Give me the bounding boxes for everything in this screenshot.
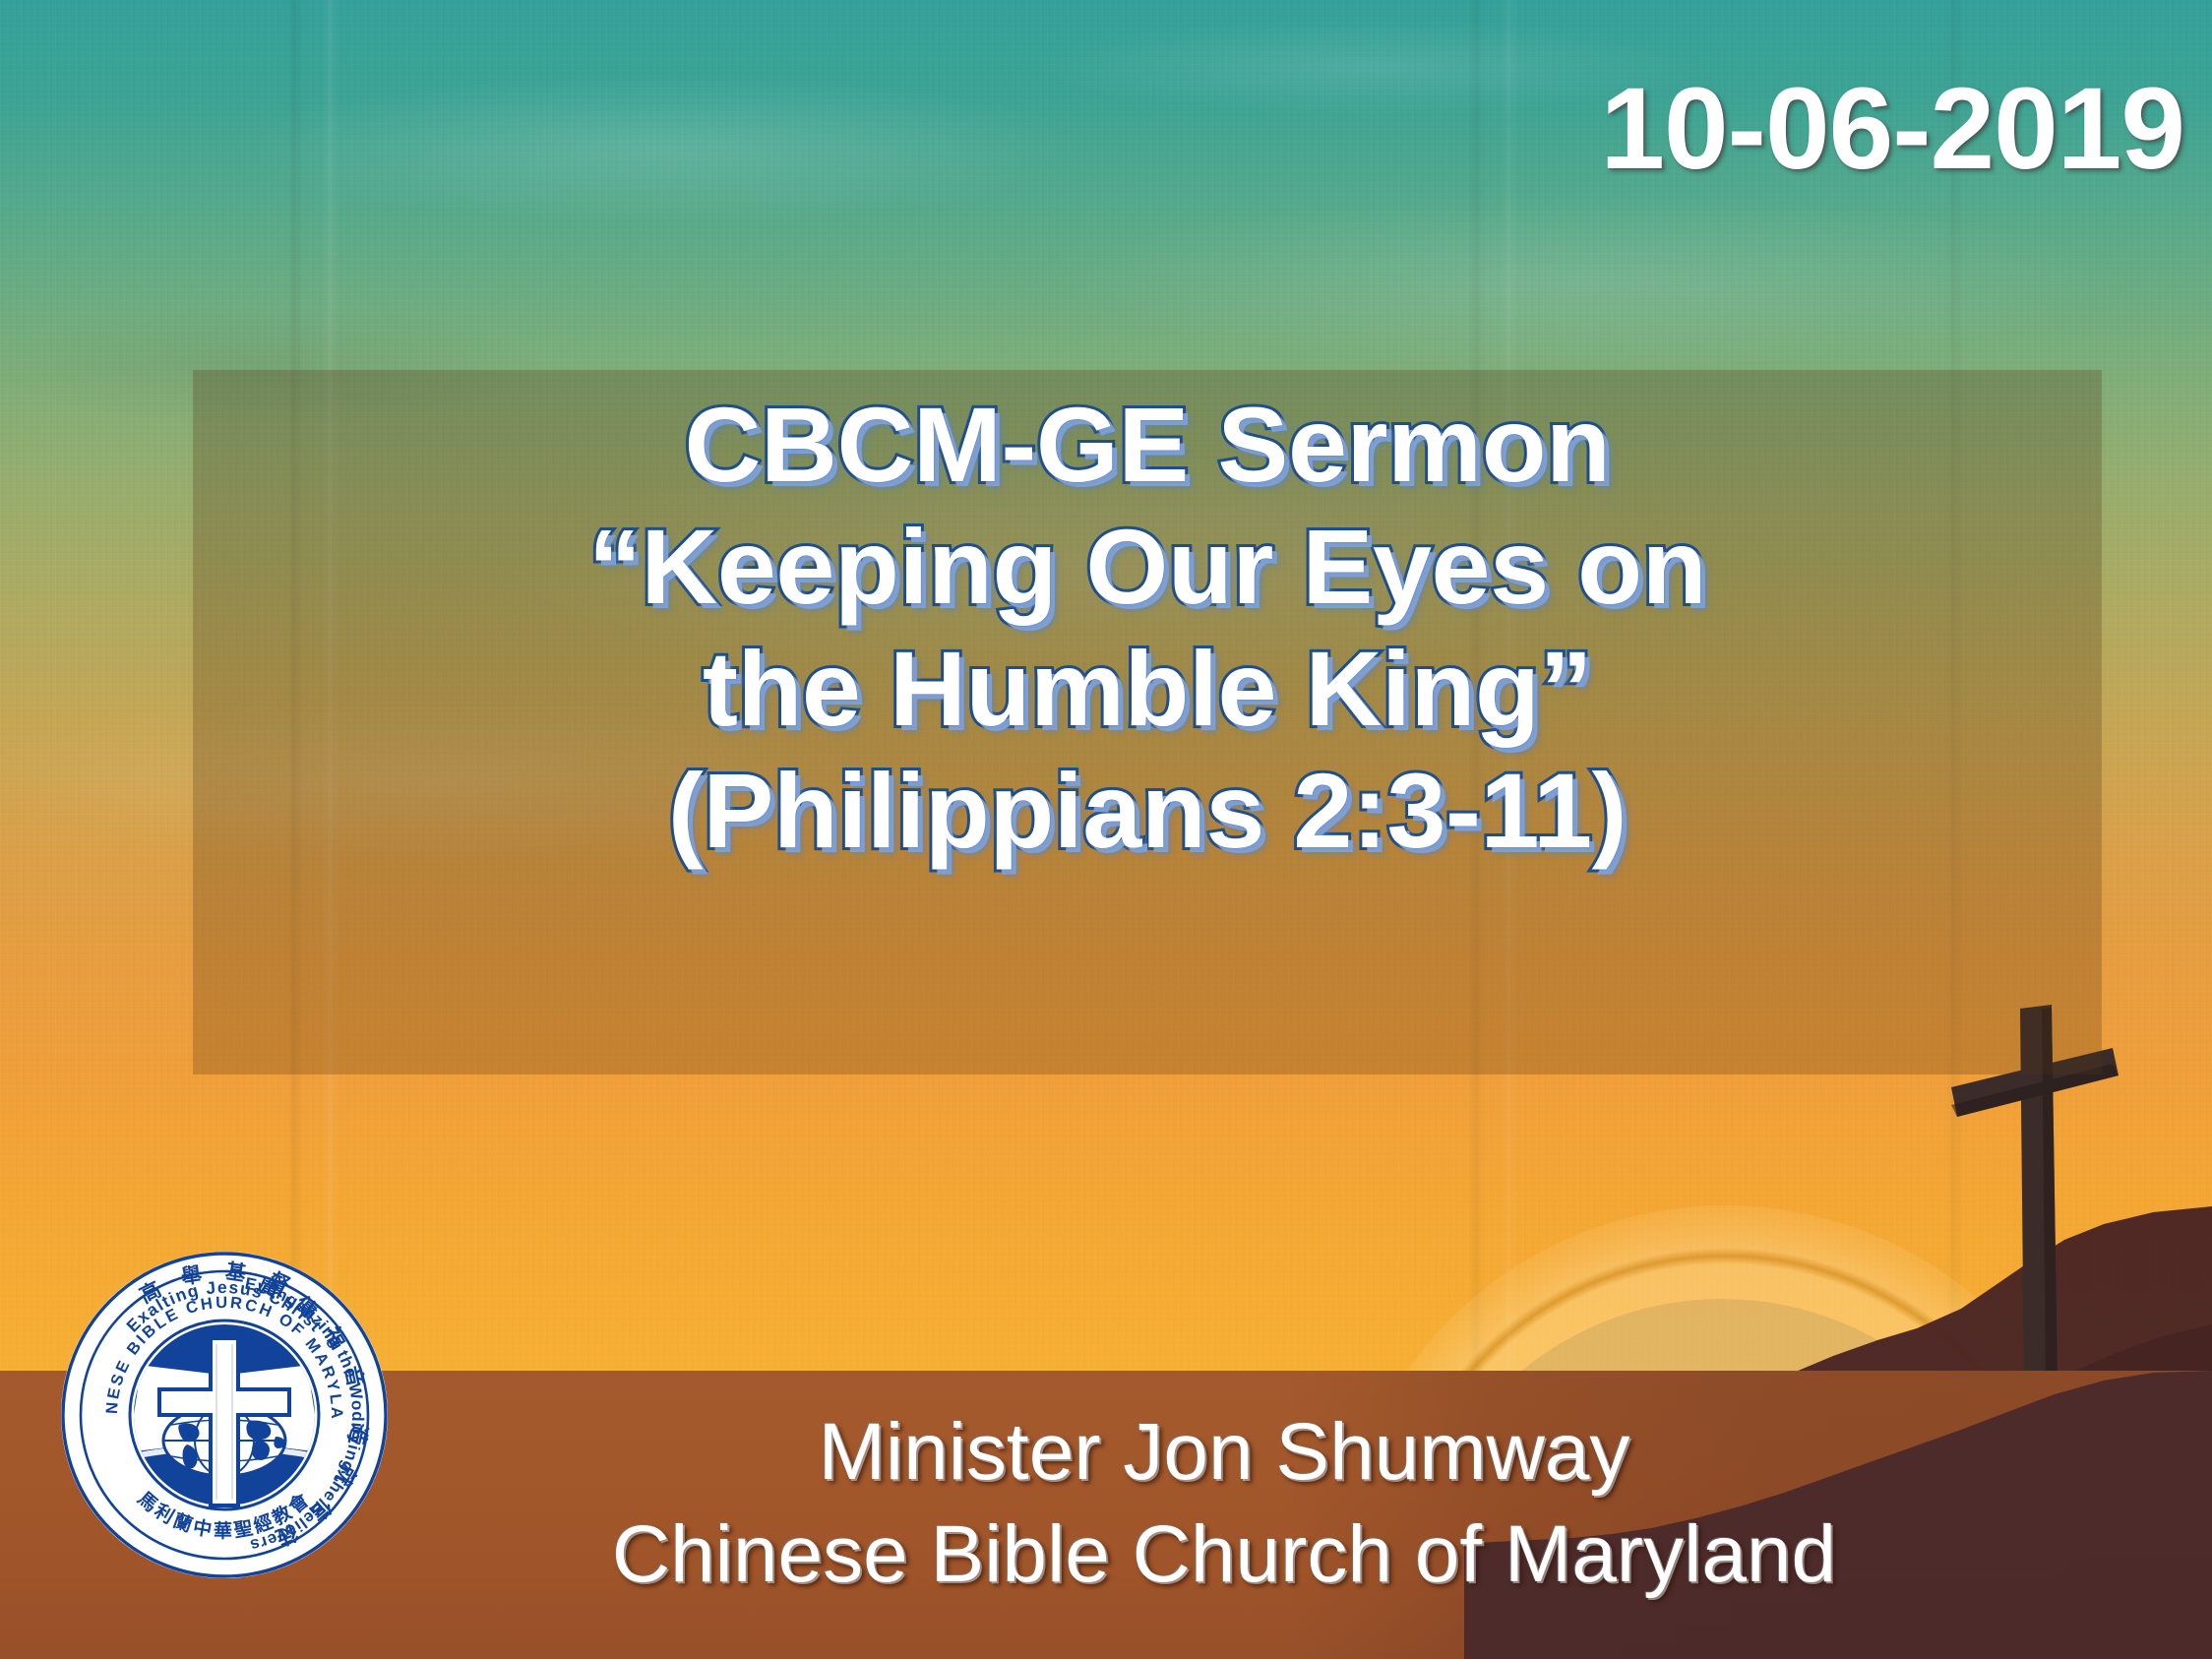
slide-date: 10-06-2019 bbox=[1600, 71, 2184, 187]
title-line-4: (Philippians 2:3-11) bbox=[193, 750, 2102, 872]
speaker-name: Minister Jon Shumway bbox=[276, 1401, 2173, 1504]
church-logo-seal: Exalting Jesus Christ 高舉基督 CHINESE BIBLE… bbox=[57, 1248, 392, 1582]
sermon-title-slide: 10-06-2019 CBCM-GE Sermon “Keeping Our E… bbox=[0, 0, 2212, 1659]
title-line-2: “Keeping Our Eyes on bbox=[193, 506, 2102, 628]
title-block: CBCM-GE Sermon “Keeping Our Eyes on the … bbox=[193, 384, 2102, 872]
title-line-1: CBCM-GE Sermon bbox=[193, 384, 2102, 506]
speaker-block: Minister Jon Shumway Chinese Bible Churc… bbox=[276, 1401, 2173, 1606]
organization-name: Chinese Bible Church of Maryland bbox=[276, 1504, 2173, 1606]
title-line-3: the Humble King” bbox=[193, 628, 2102, 750]
